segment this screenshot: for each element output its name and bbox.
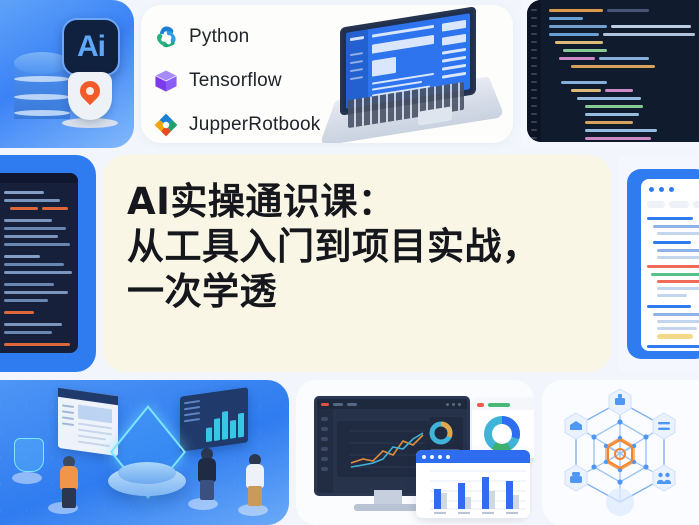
window-dot (649, 187, 654, 192)
ai-badge-label: Ai (77, 30, 105, 64)
tech-stack-item-python[interactable]: Python (153, 19, 320, 55)
laptop-illustration (322, 13, 507, 138)
person-figure (58, 456, 80, 508)
code-gutter (527, 0, 541, 142)
bar-chart-card (416, 450, 530, 518)
network-node-bottom (606, 488, 634, 516)
map-pin-icon (76, 77, 104, 105)
tech-stack-label: Tensorflow (189, 70, 282, 92)
diamond-petals-icon (153, 112, 179, 138)
tech-stack-label: JupperRotbook (189, 114, 320, 136)
title-line-1: AI实操通识课： (127, 179, 599, 224)
page-title: AI实操通识课： 从工具入门到项目实战， 一次学透 (127, 179, 599, 314)
code-window-small (0, 173, 78, 353)
document-screen-isometric (58, 388, 118, 456)
network-node-top (609, 389, 631, 415)
tech-stack-label: Python (189, 26, 249, 48)
chart-screen-isometric (180, 387, 248, 452)
cube-box-icon (153, 68, 179, 94)
network-node-top-left (565, 413, 587, 439)
network-node-bottom-right (653, 465, 675, 491)
network-node-bottom-left (565, 465, 587, 491)
code-window (527, 0, 699, 142)
ai-badge-icon: Ai (62, 18, 120, 76)
hexagon-network-illustration (542, 380, 699, 525)
isometric-collaboration-illustration (0, 380, 289, 525)
tech-stack-item-jupperrotbook[interactable]: JupperRotbook (153, 107, 320, 143)
course-title-card: AI实操通识课： 从工具入门到项目实战， 一次学透 (103, 155, 611, 372)
python-logo-icon (153, 24, 179, 50)
code-editor-dark-panel (521, 0, 699, 148)
code-editor-blue-panel (0, 155, 96, 372)
window-dots (649, 187, 674, 192)
tech-stack-list: Python Tensorflow (153, 19, 320, 143)
network-node-top-right (653, 413, 675, 439)
database-ai-illustration: Ai (0, 0, 134, 148)
network-graph (542, 380, 699, 525)
document-window-frame (627, 169, 699, 359)
document-page (641, 179, 699, 351)
person-figure (244, 454, 266, 506)
tech-stack-item-tensorflow[interactable]: Tensorflow (153, 63, 320, 99)
document-outline-panel (619, 155, 699, 372)
tech-stack-card: Python Tensorflow (141, 5, 513, 143)
window-dot (669, 187, 674, 192)
analytics-dashboard-illustration (296, 380, 534, 525)
shield-hologram-icon (14, 438, 44, 472)
person-figure (196, 448, 218, 500)
title-line-3: 一次学透 (127, 269, 599, 314)
window-dot (659, 187, 664, 192)
poster-root: Ai Python (0, 0, 699, 525)
location-pin-card (68, 72, 112, 120)
title-line-2: 从工具入门到项目实战， (127, 224, 599, 269)
monitor-foot (354, 504, 424, 511)
